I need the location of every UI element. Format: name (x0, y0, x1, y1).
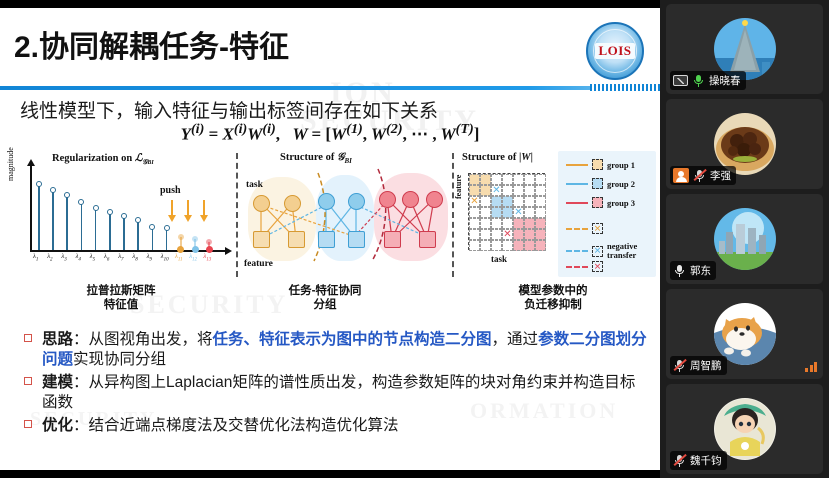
legend-cross-icon: ✕ (592, 246, 603, 257)
feature-node (384, 231, 401, 248)
bullet-item: 建模：从异构图上Laplacian矩阵的谱性质出发，构造参数矩阵的块对角约束并构… (22, 373, 648, 414)
feature-node (318, 231, 335, 248)
bullet-item: 优化：结合近端点梯度法及交替优化法构造优化算法 (22, 416, 648, 436)
matrix-cell (513, 185, 524, 196)
feature-node (348, 231, 365, 248)
push-annotation: push (160, 185, 181, 196)
caption-line: 拉普拉斯矩阵 (36, 284, 206, 298)
legend-swatch-icon (592, 178, 603, 189)
x-tick-label: λ2 (47, 253, 52, 262)
matrix-cell (491, 207, 502, 218)
legend-item-group-3: group 3 (566, 197, 635, 208)
matrix-cell (469, 229, 480, 240)
matrix-cell (513, 174, 524, 185)
title-divider (0, 86, 660, 90)
heatmap-title: Structure of |W| (462, 152, 533, 163)
x-tick-label: λ8 (132, 253, 137, 262)
bullet-text: ：结合近端点梯度法及交替优化法构造优化算法 (73, 417, 399, 434)
lois-logo-icon: LOIS (586, 22, 644, 80)
matrix-cell: ✕ (469, 196, 480, 207)
task-node (318, 193, 335, 210)
caption-line: 特征值 (36, 298, 206, 312)
stem-marker (50, 187, 56, 193)
heatmap-x-label: task (491, 254, 507, 264)
matrix-cell (524, 218, 535, 229)
legend-swatch-icon (592, 159, 603, 170)
pushed-marker (206, 246, 213, 253)
mic-icon (692, 74, 705, 87)
negative-transfer-x-icon: ✕ (503, 230, 511, 240)
lead-sentence: 线性模型下，输入特征与输出标签间存在如下关系 (20, 96, 438, 123)
matrix-cell (513, 229, 524, 240)
stem-marker (36, 181, 42, 187)
legend-dash-icon (566, 228, 588, 230)
bullet-list: 思路：从图视角出发，将任务、特征表示为图中的节点构造二分图，通过参数二分图划分问… (22, 330, 648, 438)
stem-line (52, 190, 54, 250)
participant-badge-row: 郭东 (670, 261, 716, 280)
bipartite-edges (244, 151, 454, 279)
mic-icon (673, 264, 686, 277)
matrix-cell (491, 229, 502, 240)
x-tick-label: λ10 (161, 253, 169, 262)
push-arrow-icon (203, 200, 205, 216)
matrix-cell (491, 174, 502, 185)
matrix-cell (469, 185, 480, 196)
legend-swatch-icon (592, 197, 603, 208)
matrix-cell (524, 240, 535, 251)
participant-rail[interactable]: 操晓春李强郭东周智鹏魏千钧 (660, 0, 829, 478)
negative-transfer-x-icon: ✕ (492, 186, 500, 196)
avatar (714, 208, 776, 270)
x-tick-label: λ11 (175, 253, 182, 262)
participant-tile[interactable]: 魏千钧 (666, 384, 823, 474)
w-matrix: ✕✕✕✕ (468, 173, 545, 250)
caption-1: 拉普拉斯矩阵特征值 (36, 284, 206, 313)
pushed-marker (177, 246, 184, 253)
stem-marker (206, 239, 212, 245)
x-tick-label: λ1 (33, 253, 38, 262)
matrix-cell (491, 218, 502, 229)
legend-line-icon (566, 164, 588, 166)
stem-line (66, 195, 68, 250)
legend-label: group 1 (607, 160, 635, 170)
logo-label: LOIS (595, 43, 634, 59)
participant-badge-row: 周智鹏 (670, 356, 727, 375)
feature-node (253, 231, 270, 248)
legend-dash-icon (566, 266, 588, 268)
task-node (253, 195, 270, 212)
page-title: 2.协同解耦任务-特征 (14, 22, 289, 66)
caption-3: 模型参数中的负迁移抑制 (468, 284, 638, 313)
x-tick-label: λ7 (118, 253, 123, 262)
bullet-text: ：从异构图上Laplacian矩阵的谱性质出发，构造参数矩阵的块对角约束并构造目… (42, 374, 635, 411)
task-node (284, 195, 301, 212)
legend-item-negative-3: ✕ (566, 261, 603, 272)
bullet-text: ：从图视角出发，将 (73, 331, 213, 348)
legend-line-icon (566, 183, 588, 185)
stem-marker (164, 225, 170, 231)
legend-item-negative-1: ✕ (566, 223, 603, 234)
stem-marker (149, 224, 155, 230)
x-tick-label: λ5 (90, 253, 95, 262)
matrix-cell (469, 207, 480, 218)
bullet-square-icon (24, 420, 32, 428)
x-tick-label: λ12 (189, 253, 197, 262)
matrix-cell (535, 218, 546, 229)
bullet-square-icon (24, 377, 32, 385)
matrix-cell (535, 240, 546, 251)
heatmap-y-label: feature (454, 175, 463, 199)
bullet-label: 思路 (42, 331, 73, 348)
legend-label: negative transfer (607, 242, 637, 261)
push-arrow-icon (171, 200, 173, 216)
matrix-cell: ✕ (491, 185, 502, 196)
stem-line (152, 227, 154, 250)
participant-badge-row: 李强 (670, 166, 736, 185)
stem-line (166, 228, 168, 250)
matrix-cell (491, 196, 502, 207)
push-arrow-icon (187, 200, 189, 216)
screen-share-icon (673, 75, 688, 86)
bullet-square-icon (24, 334, 32, 342)
legend-line-icon (566, 202, 588, 204)
participant-name: 郭东 (690, 263, 711, 278)
participant-name: 操晓春 (709, 73, 741, 88)
legend-item-group-1: group 1 (566, 159, 635, 170)
participant-badge-row: 操晓春 (670, 71, 746, 90)
figure-panels: Regularization on ℒ𝒢BI magnitude λ1λ2λ3λ… (8, 151, 656, 279)
matrix-cell (491, 240, 502, 251)
legend-item-group-2: group 2 (566, 178, 635, 189)
task-axis-label: task (246, 180, 263, 190)
participant-name: 李强 (710, 168, 731, 183)
matrix-cell (480, 218, 491, 229)
stem-marker (107, 209, 113, 215)
diagram-bipartite-graph: Structure of 𝒢BI (244, 151, 454, 279)
matrix-cell (480, 185, 491, 196)
matrix-cell (513, 196, 524, 207)
participant-tile[interactable]: 郭东 (666, 194, 823, 284)
matrix-cell: ✕ (502, 229, 513, 240)
stem-marker (93, 205, 99, 211)
matrix-cell (513, 240, 524, 251)
signal-bar (810, 365, 813, 372)
stem-line (95, 208, 97, 250)
bullet-highlight-text: 任务、特征表示为图中的节点构造二分图 (213, 331, 492, 348)
x-tick-label: λ3 (61, 253, 66, 262)
matrix-cell: ✕ (513, 207, 524, 218)
matrix-cell (469, 174, 480, 185)
negative-transfer-x-icon: ✕ (514, 208, 522, 218)
matrix-cell (524, 185, 535, 196)
mic-muted-icon (693, 169, 706, 182)
matrix-cell (502, 240, 513, 251)
bullet-label: 优化 (42, 417, 73, 434)
caption-line: 分组 (240, 298, 410, 312)
formula: Y(i) = X(i)W(i), W = [W(1), W(2), ⋯ , W(… (0, 121, 660, 145)
network-signal-icon (805, 362, 817, 372)
x-tick-label: λ4 (76, 253, 81, 262)
matrix-cell (480, 229, 491, 240)
participant-tile[interactable]: 操晓春 (666, 4, 823, 94)
task-node (402, 191, 419, 208)
matrix-cell (480, 196, 491, 207)
matrix-cell (502, 174, 513, 185)
matrix-cell (535, 207, 546, 218)
task-node (348, 193, 365, 210)
stem-marker (178, 234, 184, 240)
feature-node (288, 231, 305, 248)
bullet-text: ，通过 (492, 331, 539, 348)
task-node (379, 191, 396, 208)
negative-transfer-x-icon: ✕ (470, 197, 478, 207)
bullet-text: 实现协同分组 (73, 351, 166, 368)
matrix-cell (469, 240, 480, 251)
chart-legend: group 1 group 2 group 3 ✕ (558, 151, 656, 277)
host-badge-icon (673, 168, 689, 183)
matrix-cell (535, 174, 546, 185)
stem-marker (121, 213, 127, 219)
x-tick-label: λ6 (104, 253, 109, 262)
x-tick-label: λ9 (147, 253, 152, 262)
matrix-cell (524, 229, 535, 240)
matrix-cell (502, 207, 513, 218)
stem-marker (78, 199, 84, 205)
stem-line (109, 212, 111, 250)
task-node (426, 191, 443, 208)
participant-name: 周智鹏 (690, 358, 722, 373)
legend-dash-icon (566, 250, 588, 252)
participant-name: 魏千钧 (690, 453, 722, 468)
matrix-cell (535, 185, 546, 196)
matrix-cell (524, 174, 535, 185)
matrix-cell (513, 218, 524, 229)
feature-node (419, 231, 436, 248)
participant-badge-row: 魏千钧 (670, 451, 727, 470)
chart-regularization: Regularization on ℒ𝒢BI magnitude λ1λ2λ3λ… (8, 151, 240, 279)
stem-line (123, 216, 125, 250)
matrix-cell (480, 207, 491, 218)
legend-cross-icon: ✕ (592, 261, 603, 272)
feature-axis-label: feature (244, 259, 273, 269)
bullet-item: 思路：从图视角出发，将任务、特征表示为图中的节点构造二分图，通过参数二分图划分问… (22, 330, 648, 371)
legend-label: group 2 (607, 179, 635, 189)
mic-muted-icon (673, 454, 686, 467)
matrix-cell (524, 207, 535, 218)
legend-cross-icon: ✕ (592, 223, 603, 234)
caption-2: 任务-特征协同分组 (240, 284, 410, 313)
caption-line: 负迁移抑制 (468, 298, 638, 312)
caption-line: 模型参数中的 (468, 284, 638, 298)
matrix-cell (469, 218, 480, 229)
matrix-cell (502, 196, 513, 207)
stem-line (137, 220, 139, 250)
legend-item-negative-2: ✕ negative transfer (566, 242, 637, 261)
legend-label: group 3 (607, 198, 635, 208)
pushed-marker (192, 246, 199, 253)
signal-bar (805, 368, 808, 372)
stem-marker (135, 217, 141, 223)
bullet-label: 建模 (42, 374, 73, 391)
mic-muted-icon (673, 359, 686, 372)
caption-line: 任务-特征协同 (240, 284, 410, 298)
stem-line (38, 184, 40, 250)
x-tick-label: λ13 (203, 253, 211, 262)
stem-line (81, 202, 83, 250)
matrix-cell (535, 229, 546, 240)
matrix-cell (535, 196, 546, 207)
shared-slide[interactable]: ION SECURITY SECURITY ORMATION SECURITY … (0, 8, 660, 470)
meeting-screen-share-view: ION SECURITY SECURITY ORMATION SECURITY … (0, 0, 829, 478)
heatmap-w-structure: Structure of |W| feature ✕✕✕✕ task group… (458, 151, 656, 279)
title-divider-dashes (590, 84, 660, 91)
matrix-cell (524, 196, 535, 207)
stem-marker (64, 192, 70, 198)
participant-tile[interactable]: 李强 (666, 99, 823, 189)
matrix-cell (502, 185, 513, 196)
participant-tile[interactable]: 周智鹏 (666, 289, 823, 379)
matrix-cell (480, 240, 491, 251)
matrix-cell (480, 174, 491, 185)
stem-marker (192, 236, 198, 242)
matrix-cell (502, 218, 513, 229)
signal-bar (814, 362, 817, 372)
